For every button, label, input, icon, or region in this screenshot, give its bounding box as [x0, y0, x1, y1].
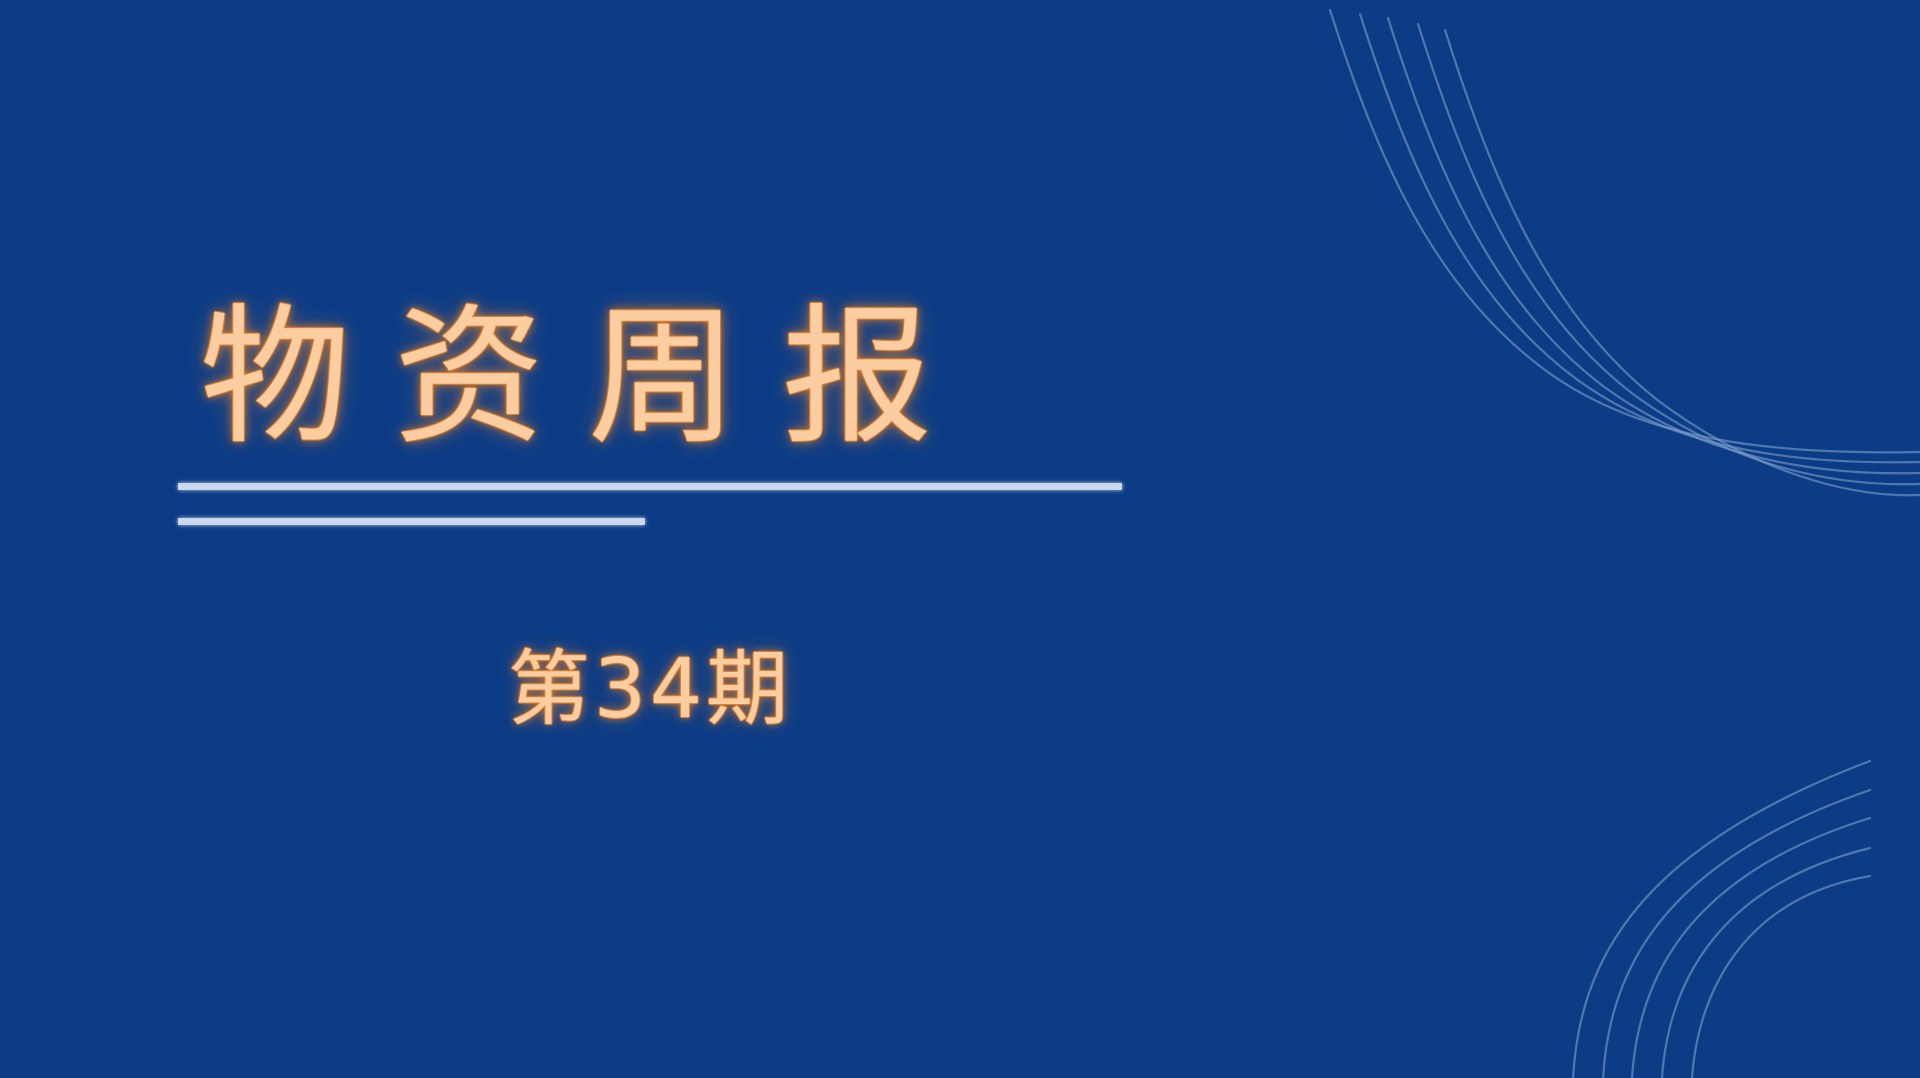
decor-arc: [1603, 790, 1870, 1078]
decor-curve: [1330, 10, 1920, 452]
arc-lines-bottom-right: [1280, 598, 1920, 1078]
title-block: 物资周报: [178, 290, 1178, 525]
title-underline-primary: [178, 483, 1122, 490]
decor-arc: [1662, 848, 1870, 1078]
decor-arc: [1692, 876, 1870, 1078]
decor-curve: [1388, 18, 1920, 473]
decor-arc: [1573, 761, 1870, 1078]
issue-number: 第34期: [178, 645, 1122, 735]
decor-curve: [1445, 30, 1920, 495]
title-slide: 物资周报 第34期: [0, 0, 1920, 1078]
decor-curve: [1360, 14, 1920, 462]
page-title: 物资周报: [200, 290, 1178, 467]
title-underline-secondary: [178, 518, 645, 525]
swoosh-lines-top-right: [1280, 0, 1920, 570]
decor-arc: [1632, 818, 1870, 1078]
decor-curve: [1418, 24, 1920, 484]
title-underline-group: [178, 483, 1178, 525]
